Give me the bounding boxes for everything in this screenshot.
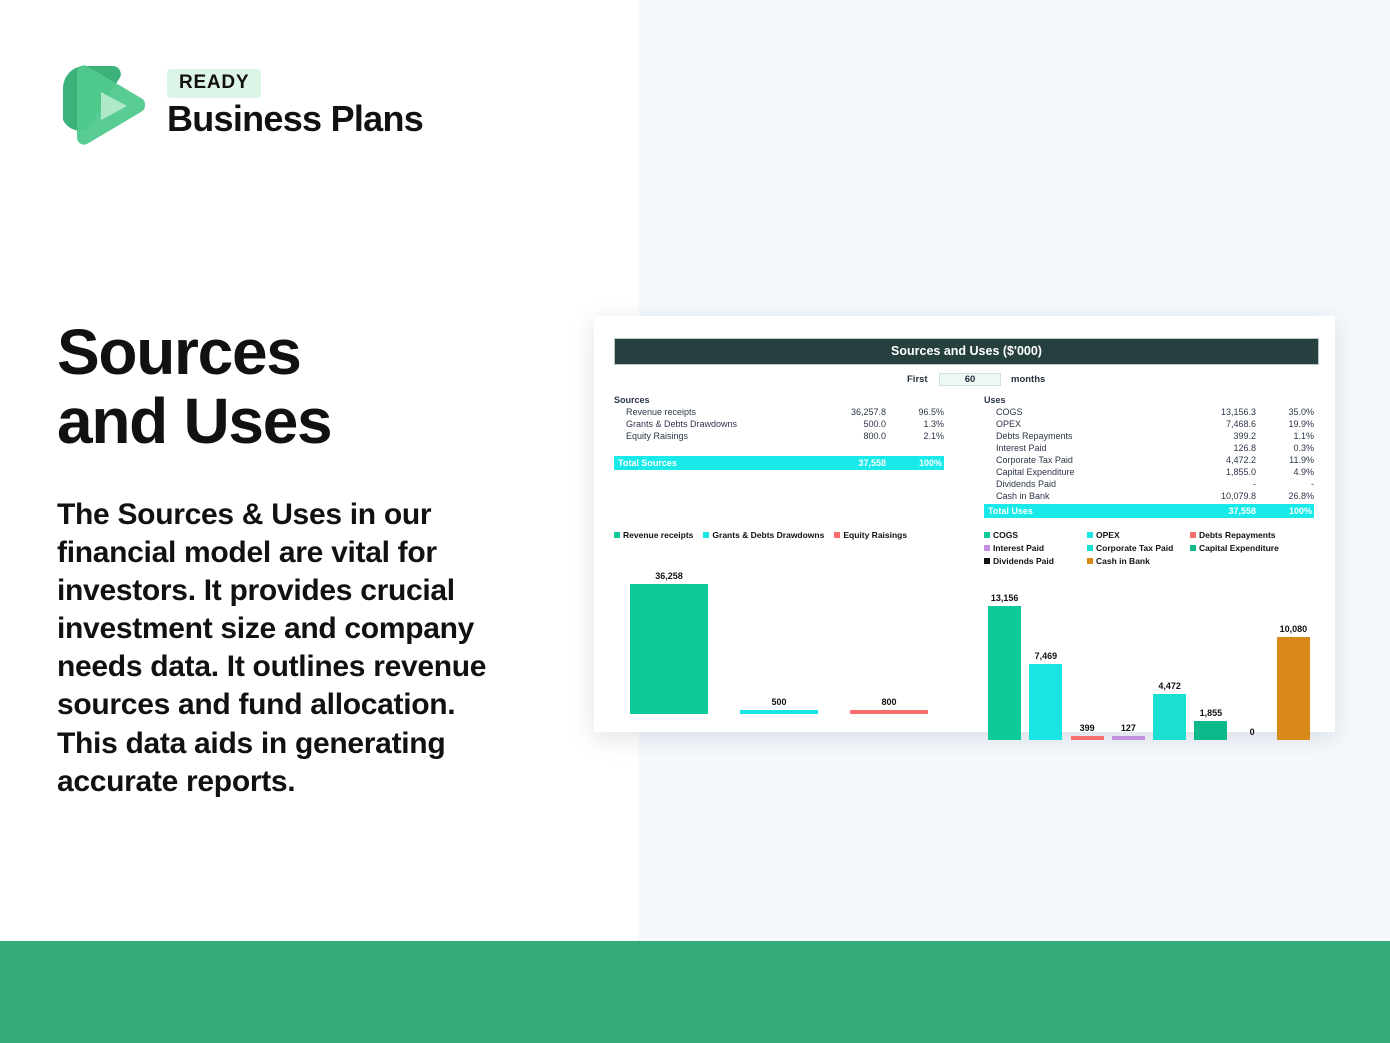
sources-total-pct: 100% [886, 458, 944, 468]
row-label: Cash in Bank [984, 491, 1176, 501]
brand-lockup: READY Business Plans [167, 69, 423, 138]
row-pct: 1.3% [886, 419, 944, 429]
page-title-line-2: and Uses [57, 387, 577, 456]
legend-item[interactable]: Equity Raisings [834, 530, 907, 540]
bar-column[interactable]: 10,080 [1277, 575, 1310, 740]
legend-item[interactable]: Interest Paid [984, 543, 1087, 553]
sheet-title-bar: Sources and Uses ($'000) [614, 338, 1319, 365]
row-label: Capital Expenditure [984, 467, 1176, 477]
legend-label: Interest Paid [993, 543, 1044, 553]
legend-swatch-icon [1087, 545, 1093, 551]
bar-value-label: 0 [1250, 727, 1255, 737]
legend-item[interactable]: Corporate Tax Paid [1087, 543, 1190, 553]
bar-value-label: 127 [1121, 723, 1136, 733]
row-amount: 36,257.8 [806, 407, 886, 417]
row-amount: 500.0 [806, 419, 886, 429]
period-months-input[interactable]: 60 [939, 373, 1001, 386]
sources-total-label: Total Sources [614, 458, 806, 468]
bar-column[interactable]: 13,156 [988, 575, 1021, 740]
uses-chart-plot: 13,1567,4693991274,4721,855010,080 [984, 575, 1314, 740]
row-pct: 19.9% [1256, 419, 1314, 429]
page-title-line-1: Sources [57, 318, 577, 387]
bar [740, 710, 818, 714]
bar-value-label: 1,855 [1200, 708, 1223, 718]
table-row: Interest Paid126.80.3% [984, 442, 1314, 454]
table-row: Cash in Bank10,079.826.8% [984, 490, 1314, 502]
bar-column[interactable]: 500 [740, 549, 818, 714]
bar-value-label: 36,258 [655, 571, 683, 581]
row-amount: 800.0 [806, 431, 886, 441]
row-amount: 399.2 [1176, 431, 1256, 441]
table-row: Dividends Paid-- [984, 478, 1314, 490]
legend-label: OPEX [1096, 530, 1120, 540]
table-row: COGS13,156.335.0% [984, 406, 1314, 418]
row-pct: 0.3% [1256, 443, 1314, 453]
row-label: Corporate Tax Paid [984, 455, 1176, 465]
row-label: Debts Repayments [984, 431, 1176, 441]
row-amount: - [1176, 479, 1256, 489]
row-amount: 13,156.3 [1176, 407, 1256, 417]
legend-swatch-icon [614, 532, 620, 538]
brand-logo[interactable]: READY Business Plans [57, 58, 423, 148]
row-pct: 35.0% [1256, 407, 1314, 417]
uses-chart: COGSOPEXDebts RepaymentsInterest PaidCor… [984, 530, 1314, 740]
legend-swatch-icon [1087, 558, 1093, 564]
row-amount: 126.8 [1176, 443, 1256, 453]
bar-value-label: 4,472 [1158, 681, 1181, 691]
bar [1194, 721, 1227, 740]
table-row: Debts Repayments399.21.1% [984, 430, 1314, 442]
uses-table: Uses COGS13,156.335.0%OPEX7,468.619.9%De… [984, 394, 1314, 518]
row-label: Dividends Paid [984, 479, 1176, 489]
sources-chart-plot: 36,258500800 [614, 549, 944, 714]
sources-table-header: Sources [614, 394, 944, 406]
legend-swatch-icon [834, 532, 840, 538]
period-selector-row: First 60 months [614, 373, 1319, 386]
table-row: Grants & Debts Drawdowns500.01.3% [614, 418, 944, 430]
slide-page: READY Business Plans Sources and Uses Th… [0, 0, 1390, 1043]
row-label: Interest Paid [984, 443, 1176, 453]
legend-item[interactable]: Debts Repayments [1190, 530, 1293, 540]
bar-column[interactable]: 1,855 [1194, 575, 1227, 740]
bar-value-label: 800 [881, 697, 896, 707]
bar [1112, 736, 1145, 740]
bar-column[interactable]: 7,469 [1029, 575, 1062, 740]
bar-value-label: 399 [1080, 723, 1095, 733]
row-pct: - [1256, 479, 1314, 489]
uses-chart-legend: COGSOPEXDebts RepaymentsInterest PaidCor… [984, 530, 1314, 569]
legend-item[interactable]: Grants & Debts Drawdowns [703, 530, 824, 540]
row-pct: 2.1% [886, 431, 944, 441]
uses-table-header: Uses [984, 394, 1314, 406]
legend-label: Equity Raisings [843, 530, 907, 540]
legend-item[interactable]: Revenue receipts [614, 530, 693, 540]
charts-row: Revenue receiptsGrants & Debts Drawdowns… [614, 530, 1319, 740]
row-amount: 4,472.2 [1176, 455, 1256, 465]
row-amount: 1,855.0 [1176, 467, 1256, 477]
sources-table-body: Revenue receipts36,257.896.5%Grants & De… [614, 406, 944, 442]
period-first-label: First [907, 374, 939, 385]
row-amount: 10,079.8 [1176, 491, 1256, 501]
legend-label: Cash in Bank [1096, 556, 1150, 566]
row-label: COGS [984, 407, 1176, 417]
legend-swatch-icon [1190, 545, 1196, 551]
bar-value-label: 7,469 [1035, 651, 1058, 661]
bar [1153, 694, 1186, 740]
uses-total-amount: 37,558 [1176, 506, 1256, 516]
bar [850, 710, 928, 714]
bar-column[interactable]: 0 [1236, 575, 1269, 740]
legend-item[interactable]: OPEX [1087, 530, 1190, 540]
legend-swatch-icon [703, 532, 709, 538]
legend-label: Corporate Tax Paid [1096, 543, 1173, 553]
spreadsheet-card: Sources and Uses ($'000) First 60 months… [594, 316, 1335, 732]
bar [1277, 637, 1310, 740]
ready-badge: READY [167, 69, 261, 98]
legend-label: Capital Expenditure [1199, 543, 1279, 553]
row-label: Equity Raisings [614, 431, 806, 441]
row-pct: 11.9% [1256, 455, 1314, 465]
bar [630, 584, 708, 714]
legend-swatch-icon [1190, 532, 1196, 538]
table-row: OPEX7,468.619.9% [984, 418, 1314, 430]
legend-item[interactable]: COGS [984, 530, 1087, 540]
table-row: Revenue receipts36,257.896.5% [614, 406, 944, 418]
legend-swatch-icon [1087, 532, 1093, 538]
period-unit-label: months [1011, 374, 1045, 385]
page-title: Sources and Uses [57, 318, 577, 456]
row-label: Grants & Debts Drawdowns [614, 419, 806, 429]
legend-item[interactable]: Cash in Bank [1087, 556, 1190, 566]
sources-chart: Revenue receiptsGrants & Debts Drawdowns… [614, 530, 944, 740]
legend-swatch-icon [984, 558, 990, 564]
table-row: Corporate Tax Paid4,472.211.9% [984, 454, 1314, 466]
play-triangle-logo-icon [57, 58, 149, 148]
row-label: Revenue receipts [614, 407, 806, 417]
uses-table-body: COGS13,156.335.0%OPEX7,468.619.9%Debts R… [984, 406, 1314, 502]
sources-table: Sources Revenue receipts36,257.896.5%Gra… [614, 394, 944, 518]
sources-total-amount: 37,558 [806, 458, 886, 468]
bar [1029, 664, 1062, 740]
uses-total-label: Total Uses [984, 506, 1176, 516]
row-pct: 26.8% [1256, 491, 1314, 501]
bar-column[interactable]: 127 [1112, 575, 1145, 740]
bar-column[interactable]: 800 [850, 549, 928, 714]
row-pct: 4.9% [1256, 467, 1314, 477]
table-row: Equity Raisings800.02.1% [614, 430, 944, 442]
row-amount: 7,468.6 [1176, 419, 1256, 429]
row-pct: 1.1% [1256, 431, 1314, 441]
legend-label: Revenue receipts [623, 530, 693, 540]
bar [988, 606, 1021, 740]
legend-swatch-icon [984, 545, 990, 551]
brand-name: Business Plans [167, 100, 423, 138]
description-paragraph: The Sources & Uses in our financial mode… [57, 496, 502, 801]
legend-label: Dividends Paid [993, 556, 1054, 566]
sources-table-spacer [614, 442, 944, 454]
row-label: OPEX [984, 419, 1176, 429]
legend-item[interactable]: Dividends Paid [984, 556, 1087, 566]
legend-label: COGS [993, 530, 1018, 540]
sources-chart-legend: Revenue receiptsGrants & Debts Drawdowns… [614, 530, 944, 543]
legend-swatch-icon [984, 532, 990, 538]
bar-value-label: 13,156 [991, 593, 1019, 603]
tables-row: Sources Revenue receipts36,257.896.5%Gra… [614, 394, 1319, 518]
legend-item[interactable]: Capital Expenditure [1190, 543, 1293, 553]
bar [1071, 736, 1104, 740]
legend-label: Grants & Debts Drawdowns [712, 530, 824, 540]
bar-column[interactable]: 399 [1071, 575, 1104, 740]
bar-column[interactable]: 4,472 [1153, 575, 1186, 740]
bar-value-label: 500 [771, 697, 786, 707]
bar-column[interactable]: 36,258 [630, 549, 708, 714]
uses-total-row: Total Uses 37,558 100% [984, 504, 1314, 518]
row-pct: 96.5% [886, 407, 944, 417]
bottom-green-band [0, 941, 1390, 1043]
spreadsheet-inner: Sources and Uses ($'000) First 60 months… [614, 338, 1319, 740]
legend-label: Debts Repayments [1199, 530, 1276, 540]
sources-total-row: Total Sources 37,558 100% [614, 456, 944, 470]
uses-total-pct: 100% [1256, 506, 1314, 516]
table-row: Capital Expenditure1,855.04.9% [984, 466, 1314, 478]
bar-value-label: 10,080 [1280, 624, 1308, 634]
